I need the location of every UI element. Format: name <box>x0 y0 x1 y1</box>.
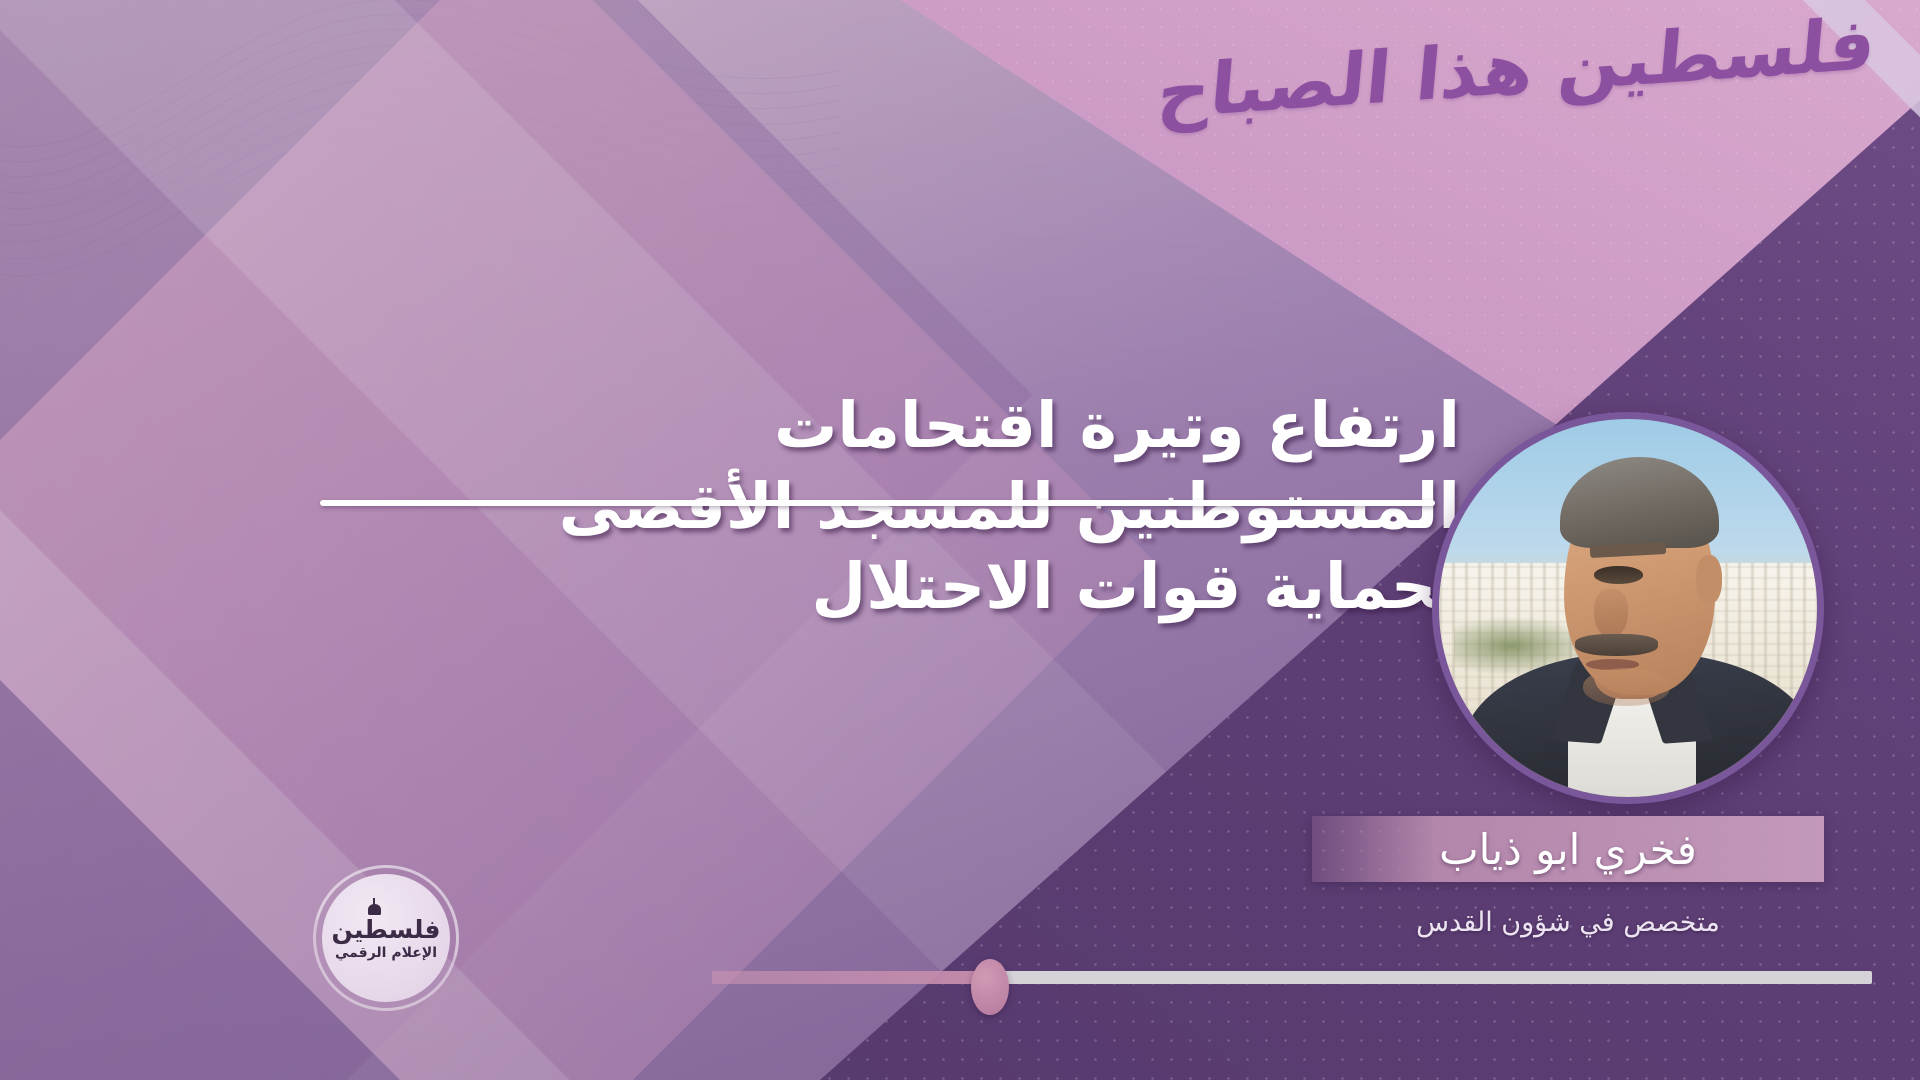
headline-line-2: المستوطنين للمسجد الأقصى <box>460 467 1460 548</box>
progress-fill <box>712 971 990 984</box>
digital-media-watermark: فلسطين الإعلام الرقمي <box>322 874 450 1002</box>
headline-line-3: بحماية قوات الاحتلال <box>460 547 1460 628</box>
dome-mosque-icon <box>368 904 381 915</box>
portrait-nose <box>1594 589 1628 638</box>
portrait-eye <box>1594 566 1643 583</box>
headline-line-1: ارتفاع وتيرة اقتحامات <box>460 386 1460 467</box>
portrait-ear <box>1696 555 1722 604</box>
progress-track[interactable] <box>990 971 1872 984</box>
guest-title-text: متخصص في شؤون القدس <box>1312 907 1824 938</box>
headline-block: ارتفاع وتيرة اقتحامات المستوطنين للمسجد … <box>460 386 1460 628</box>
watermark-disc: فلسطين الإعلام الرقمي <box>322 874 450 1002</box>
headline-divider-rule <box>320 500 1435 506</box>
portrait-chin <box>1583 668 1670 706</box>
guest-portrait-avatar <box>1432 412 1824 804</box>
guest-name-text: فخري ابو ذياب <box>1439 825 1697 874</box>
broadcast-frame: فلسطين هذا الصباح ارتفاع وتيرة اقتحامات … <box>0 0 1920 1080</box>
portrait-moustache <box>1575 634 1658 655</box>
guest-name-banner: فخري ابو ذياب <box>1312 816 1824 882</box>
watermark-main-text: فلسطين <box>331 917 440 942</box>
video-progress-bar[interactable] <box>712 960 1872 994</box>
watermark-sub-text: الإعلام الرقمي <box>335 946 437 960</box>
